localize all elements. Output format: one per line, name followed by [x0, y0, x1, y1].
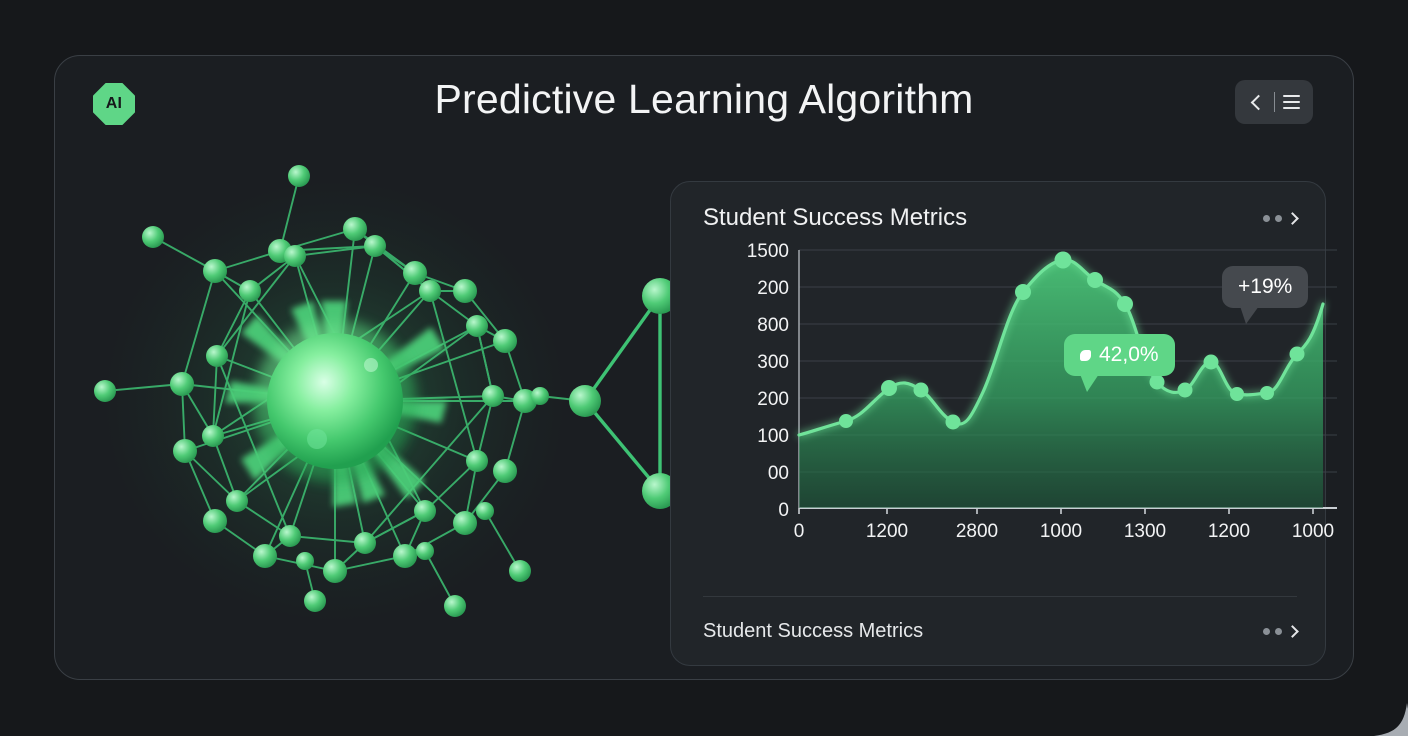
page-title: Predictive Learning Algorithm — [55, 76, 1353, 123]
menu-button[interactable] — [1275, 80, 1309, 124]
svg-text:2800: 2800 — [956, 521, 998, 542]
svg-text:1000: 1000 — [1292, 521, 1334, 542]
card-more-button[interactable] — [1263, 214, 1297, 223]
chevron-right-icon — [1286, 625, 1299, 638]
card-footer-more-button[interactable] — [1263, 627, 1297, 636]
sparkle-icon — [1372, 701, 1408, 736]
svg-text:1500: 1500 — [747, 241, 789, 262]
svg-text:100: 100 — [757, 426, 789, 447]
output-node — [569, 385, 601, 417]
svg-text:200: 200 — [757, 278, 789, 299]
value-tooltip-label: 42,0% — [1099, 343, 1159, 367]
delta-tooltip[interactable]: +19% — [1222, 266, 1308, 308]
card-divider — [703, 596, 1297, 597]
svg-text:00: 00 — [768, 463, 789, 484]
hamburger-menu-icon — [1283, 95, 1300, 109]
dot-indicator — [1275, 215, 1282, 222]
back-button[interactable] — [1240, 80, 1274, 124]
neural-network-illustration — [85, 151, 725, 671]
svg-text:1300: 1300 — [1124, 521, 1166, 542]
svg-text:1200: 1200 — [1208, 521, 1250, 542]
neural-network-svg — [85, 151, 725, 671]
chevron-left-icon — [1250, 94, 1266, 110]
card-header: Student Success Metrics — [703, 204, 1297, 232]
metrics-card: Student Success Metrics — [670, 181, 1326, 666]
x-axis-labels: 0 1200 2800 1000 1300 1200 1000 — [794, 521, 1334, 542]
tooltip-pip-icon — [1080, 350, 1091, 361]
card-title: Student Success Metrics — [703, 204, 967, 232]
dot-indicator — [1263, 628, 1270, 635]
dot-indicator — [1275, 628, 1282, 635]
card-footer-title: Student Success Metrics — [703, 620, 923, 643]
svg-text:800: 800 — [757, 315, 789, 336]
svg-text:300: 300 — [757, 352, 789, 373]
dot-indicator — [1263, 215, 1270, 222]
value-tooltip[interactable]: 42,0% — [1064, 334, 1175, 376]
screen-root: AI Predictive Learning Algorithm — [0, 0, 1408, 736]
svg-text:200: 200 — [757, 389, 789, 410]
svg-text:0: 0 — [778, 500, 789, 521]
delta-tooltip-label: +19% — [1238, 275, 1292, 299]
nav-pill — [1235, 80, 1313, 124]
card-footer: Student Success Metrics — [703, 620, 1297, 643]
y-axis-labels: 1500 200 800 300 200 100 00 0 — [747, 241, 789, 521]
svg-text:1200: 1200 — [866, 521, 908, 542]
svg-text:1000: 1000 — [1040, 521, 1082, 542]
svg-text:0: 0 — [794, 521, 805, 542]
chevron-right-icon — [1286, 212, 1299, 225]
